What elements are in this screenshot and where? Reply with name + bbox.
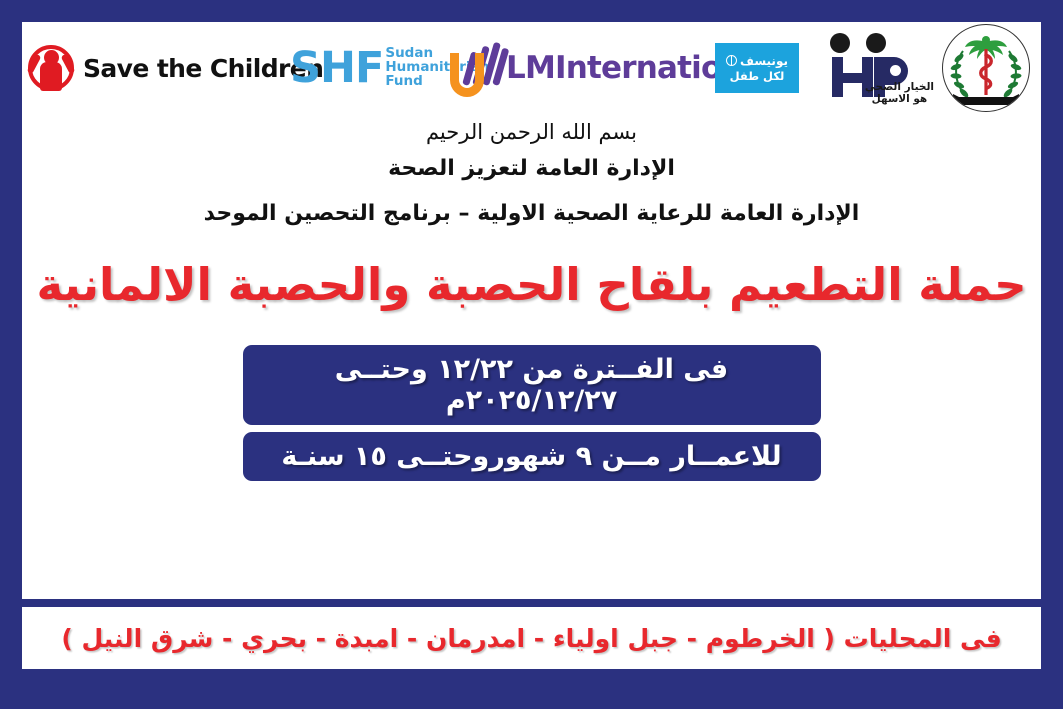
unicef-globe-icon bbox=[726, 55, 737, 66]
unicef-arabic-name: يونيسف bbox=[740, 54, 788, 68]
unicef-logo: يونيسف لكل طفل bbox=[715, 22, 799, 114]
lm-hand-icon bbox=[448, 37, 504, 99]
campaign-headline: حملة التطعيم بلقاح الحصبة والحصبة الالما… bbox=[22, 258, 1041, 311]
locality-strip: فى المحليات ( الخرطوم - جبل اولياء - امد… bbox=[22, 607, 1041, 669]
basmala-text: بسم الله الرحمن الرحيم bbox=[22, 120, 1041, 144]
shf-abbreviation: SHF bbox=[290, 47, 383, 90]
department-health-promotion: الإدارة العامة لتعزيز الصحة bbox=[22, 156, 1041, 181]
main-content-panel: Save the Children SHF Sudan Humanitarian… bbox=[22, 22, 1041, 599]
sudan-ministry-of-health-emblem bbox=[942, 22, 1030, 114]
campaign-banners: فى الفــترة من ١٢/٢٢ وحتــى ٢٠٢٥/١٢/٢٧م … bbox=[22, 345, 1041, 481]
moh-emblem-icon bbox=[942, 24, 1030, 112]
hp-slogan-line-2: هو الاسهل bbox=[865, 93, 934, 105]
save-the-children-icon bbox=[28, 45, 74, 91]
vaccination-campaign-poster: Save the Children SHF Sudan Humanitarian… bbox=[0, 0, 1063, 709]
hp-slogan-line-1: الخيار الصحي bbox=[865, 81, 934, 93]
partner-logo-strip: Save the Children SHF Sudan Humanitarian… bbox=[22, 22, 1041, 114]
hp-slogan: الخيار الصحي هو الاسهل bbox=[865, 81, 934, 105]
hp-monogram-icon: الخيار الصحي هو الاسهل bbox=[822, 31, 934, 105]
footer-divider bbox=[22, 599, 1041, 607]
unicef-box: يونيسف لكل طفل bbox=[715, 43, 799, 93]
campaign-date-banner: فى الفــترة من ١٢/٢٢ وحتــى ٢٠٢٥/١٢/٢٧م bbox=[243, 345, 821, 425]
save-the-children-logo: Save the Children bbox=[28, 22, 323, 114]
locality-list: فى المحليات ( الخرطوم - جبل اولياء - امد… bbox=[61, 624, 1001, 653]
unicef-tagline: لكل طفل bbox=[730, 69, 785, 83]
department-primary-health-care: الإدارة العامة للرعاية الصحية الاولية – … bbox=[22, 201, 1041, 226]
lm-initials: LM bbox=[506, 50, 555, 86]
health-promotion-logo: الخيار الصحي هو الاسهل bbox=[822, 22, 934, 114]
campaign-age-banner: للاعمــار مــن ٩ شهوروحتــى ١٥ سنـة bbox=[243, 432, 821, 481]
save-the-children-wordmark: Save the Children bbox=[83, 54, 323, 83]
